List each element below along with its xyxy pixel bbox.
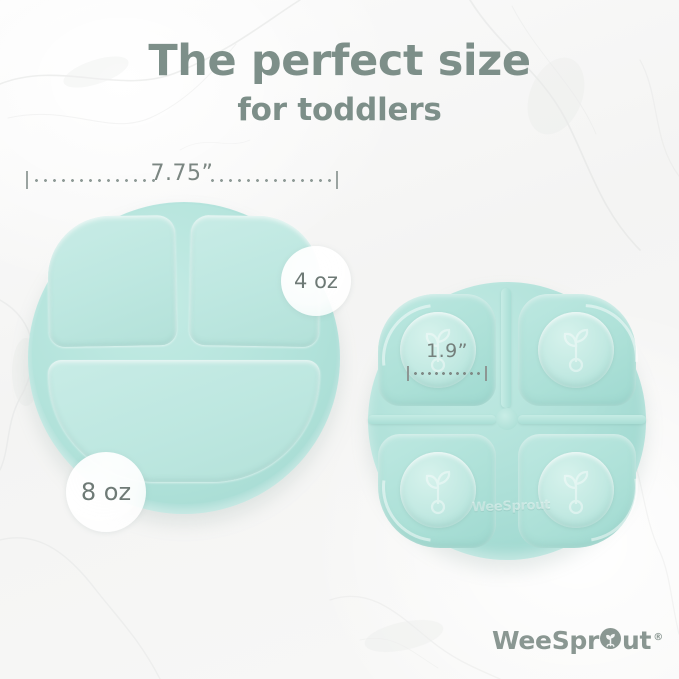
sprout-emboss-icon [400,452,476,528]
plate-back-rib-horizontal-right [518,415,646,424]
sprout-logo-icon [600,628,621,649]
dimension-dots-right [208,179,332,182]
dimension-dots-left [32,179,156,182]
suction-cup-bottom-right [538,452,614,528]
dimension-suction-cup: 1.9” [407,340,487,384]
dimension-cup-cap-left [407,366,409,381]
capacity-badge-8oz-label: 8 oz [81,478,131,506]
brand-logo-wee: Wee [492,626,552,655]
brand-logo-ut: ut [622,626,651,655]
dimension-end-cap-left [26,171,28,189]
headline-secondary: for toddlers [0,90,679,130]
suction-cup-top-right [538,312,614,388]
divided-plate-back: WeeSprout [368,282,646,560]
headline-primary: The perfect size [0,36,679,86]
dimension-cup-dots [412,372,482,375]
sprout-emboss-icon [538,312,614,388]
dimension-label-cup: 1.9” [426,340,468,362]
brand-logo-spr: Spr [552,626,599,655]
sprout-glyph [600,630,621,651]
suction-cup-bottom-left [400,452,476,528]
plate-back-rib-horizontal-left [368,415,496,424]
sprout-emboss-icon [538,452,614,528]
capacity-badge-8oz: 8 oz [66,452,146,532]
compartment-upper-left [47,215,177,347]
brand-logo-text: Wee Spr ut ® [492,626,663,655]
plate-back-rib-vertical [501,288,511,408]
capacity-badge-4oz-label: 4 oz [294,269,338,293]
dimension-label-width: 7.75” [151,161,214,186]
registered-trademark-icon: ® [653,632,663,643]
brand-logo: Wee Spr ut ® [492,626,663,655]
capacity-badge-4oz: 4 oz [281,246,351,316]
dimension-plate-width: 7.75” [26,168,338,192]
dimension-cup-cap-right [485,366,487,381]
dimension-end-cap-right [336,171,338,189]
page-title: The perfect size for toddlers [0,36,679,130]
plate-back-center-hub [496,408,518,430]
product-infographic: The perfect size for toddlers 7.75” [0,0,679,679]
